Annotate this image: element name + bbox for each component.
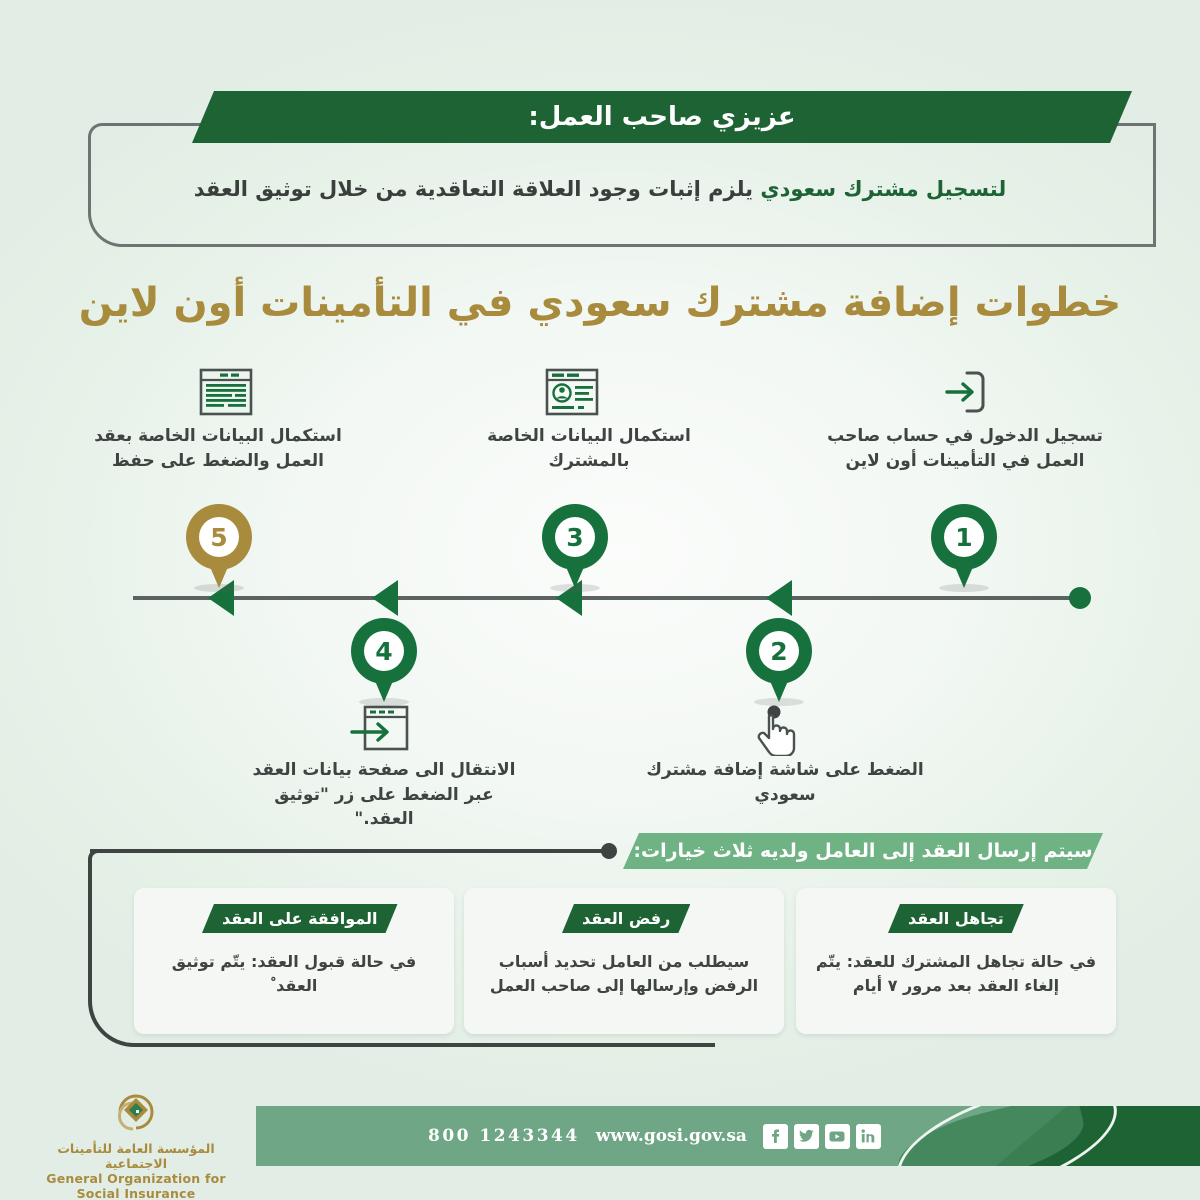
step-2-pin: 2 (746, 618, 812, 704)
facebook-icon[interactable] (763, 1124, 788, 1149)
option-card-ignore-tag: تجاهل العقد (888, 904, 1024, 933)
footer-social-links (763, 1124, 881, 1149)
header-banner: عزيزي صاحب العمل: (192, 91, 1132, 143)
step-4-label: الانتقال الى صفحة بيانات العقد عبر الضغط… (244, 758, 524, 832)
step-4-pin-number: 4 (364, 631, 404, 671)
footer-website-url[interactable]: www.gosi.gov.sa (596, 1126, 747, 1146)
login-arrow-icon (937, 365, 991, 419)
gosi-logo-arabic-name: المؤسسة العامة للتأمينات الاجتماعية (26, 1141, 246, 1171)
step-4-pin: 4 (351, 618, 417, 704)
option-card-approve-tag-label: الموافقة على العقد (222, 909, 378, 928)
step-1-pin-number: 1 (944, 517, 984, 557)
footer-content: 800 1243344 www.gosi.gov.sa (256, 1106, 1200, 1166)
document-lines-icon (198, 367, 254, 417)
step-5-label: استكمال البيانات الخاصة بعقد العمل والضغ… (78, 424, 358, 473)
step-4-icon-browser-arrow-icon (344, 698, 416, 758)
footer-bar: 800 1243344 www.gosi.gov.sa (256, 1106, 1200, 1166)
step-5-icon-document-lines-icon (190, 362, 262, 422)
step-3-pin-number: 3 (555, 517, 595, 557)
options-banner: سيتم إرسال العقد إلى العامل ولديه ثلاث خ… (623, 833, 1103, 869)
option-card-ignore-body: في حالة تجاهل المشترك للعقد: يتّم إلغاء … (814, 950, 1098, 998)
step-3-pin: 3 (542, 504, 608, 590)
gosi-logo-english-name: General Organization for Social Insuranc… (26, 1171, 246, 1200)
footer-phone: 800 1243344 (428, 1126, 580, 1146)
twitter-icon[interactable] (794, 1124, 819, 1149)
header-frame-right (1112, 123, 1156, 247)
options-bracket-bottom-rule (215, 1043, 715, 1047)
step-2-pin-number: 2 (759, 631, 799, 671)
step-1-pin: 1 (931, 504, 997, 590)
option-card-reject-tag: رفض العقد (562, 904, 690, 933)
gosi-logo: المؤسسة العامة للتأمينات الاجتماعية Gene… (26, 1090, 246, 1200)
gosi-logo-mark (100, 1090, 172, 1134)
step-3-icon-profile-card-icon (536, 362, 608, 422)
step-2-icon-click-hand-icon (744, 700, 816, 760)
option-card-ignore-tag-label: تجاهل العقد (908, 909, 1004, 928)
header-subtitle-rest: يلزم إثبات وجود العلاقة التعاقدية من خلا… (194, 177, 761, 201)
step-2-label: الضغط على شاشة إضافة مشترك سعودي (645, 758, 925, 807)
options-banner-title: سيتم إرسال العقد إلى العامل ولديه ثلاث خ… (633, 840, 1092, 862)
youtube-icon[interactable] (825, 1124, 850, 1149)
option-card-ignore: تجاهل العقد في حالة تجاهل المشترك للعقد:… (796, 888, 1116, 1034)
step-1-label: تسجيل الدخول في حساب صاحب العمل في التأم… (825, 424, 1105, 473)
option-card-approve-body: في حالة قبول العقد: يتّم توثيق العقد ْ (152, 950, 436, 998)
profile-card-icon (544, 367, 600, 417)
options-connector-dot (601, 843, 617, 859)
step-5-pin-number: 5 (199, 517, 239, 557)
infographic-page: عزيزي صاحب العمل: لتسجيل مشترك سعودي يلز… (0, 0, 1200, 1200)
option-card-approve: الموافقة على العقد في حالة قبول العقد: ي… (134, 888, 454, 1034)
options-connector-rule (90, 849, 605, 853)
timeline-start-dot (1069, 587, 1091, 609)
timeline-arrow-1 (766, 580, 792, 616)
timeline-arrow-3 (372, 580, 398, 616)
option-card-reject: رفض العقد سيطلب من العامل تحديد أسباب ال… (464, 888, 784, 1034)
option-card-reject-tag-label: رفض العقد (582, 909, 670, 928)
page-title: خطوات إضافة مشترك سعودي في التأمينات أون… (60, 278, 1140, 328)
click-hand-icon (756, 704, 804, 756)
browser-arrow-icon (350, 703, 410, 753)
header-frame-bottom-rule (225, 244, 1155, 247)
timeline-axis (133, 596, 1081, 600)
header-banner-title: عزيزي صاحب العمل: (528, 102, 795, 132)
step-5-pin: 5 (186, 504, 252, 590)
step-3-label: استكمال البيانات الخاصة بالمشترك (449, 424, 729, 473)
option-card-reject-body: سيطلب من العامل تحديد أسباب الرفض وإرسال… (482, 950, 766, 998)
option-card-approve-tag: الموافقة على العقد (202, 904, 398, 933)
header-subtitle: لتسجيل مشترك سعودي يلزم إثبات وجود العلا… (120, 175, 1080, 204)
header-subtitle-highlight: لتسجيل مشترك سعودي (760, 177, 1006, 201)
linkedin-icon[interactable] (856, 1124, 881, 1149)
step-1-icon-login-arrow-icon (928, 362, 1000, 422)
